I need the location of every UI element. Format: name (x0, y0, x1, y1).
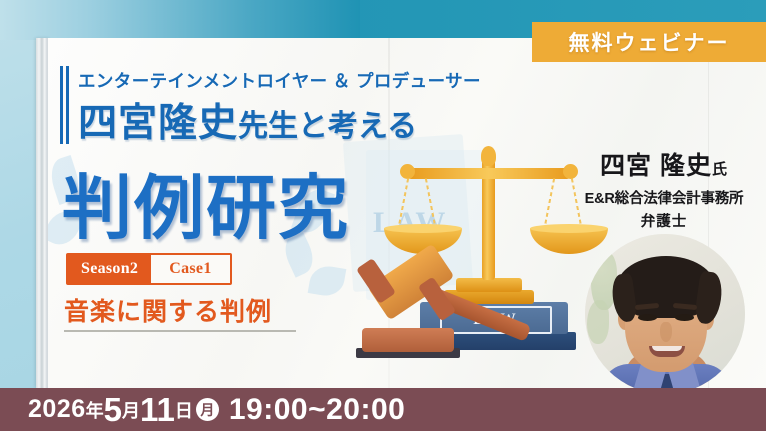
bottom-bar: 2026年5月11日月19:00~20:00 (0, 388, 766, 431)
page-title: 判例研究 (62, 152, 350, 253)
speaker-info: 四宮 隆史氏 E&R総合法律会計事務所 弁護士 (566, 146, 762, 231)
season-badge: Season2 (68, 255, 151, 283)
schedule-year: 2026 (28, 395, 86, 424)
schedule-year-unit: 年 (86, 397, 104, 423)
speaker-name-text: 四宮 隆史 (600, 152, 712, 180)
schedule-time: 19:00~20:00 (229, 393, 405, 427)
speaker-organization: E&R総合法律会計事務所 (566, 187, 762, 208)
schedule-datetime: 2026年5月11日月19:00~20:00 (28, 388, 405, 431)
speaker-avatar (585, 234, 745, 394)
headline-line: 四宮隆史先生と考える (78, 92, 417, 148)
schedule-day-unit: 日 (175, 397, 193, 423)
schedule-day: 11 (140, 391, 175, 429)
subject-underline (64, 330, 296, 332)
season-case-pills: Season2 Case1 (66, 253, 232, 285)
avatar-plant-leaf-2 (587, 300, 609, 344)
subject-text: 音楽に関する判例 (64, 292, 272, 328)
free-webinar-badge: 無料ウェビナー (532, 22, 766, 62)
watermark-leaf-3 (308, 263, 347, 298)
scale-beam (406, 168, 572, 179)
schedule-weekday-badge: 月 (196, 398, 219, 421)
webinar-banner: 無料ウェビナー LAW エンターテインメントロイヤー ＆ プロデューサー 四宮隆… (0, 0, 766, 431)
gavel-sound-block (362, 328, 454, 352)
schedule-month-unit: 月 (122, 397, 140, 423)
scale-finial (481, 146, 496, 166)
kicker-text: エンターテインメントロイヤー ＆ プロデューサー (78, 68, 481, 93)
avatar-eye-right (675, 314, 694, 321)
speaker-role: 弁護士 (566, 210, 762, 231)
top-teal-band-fade (0, 0, 360, 40)
avatar-eye-left (638, 314, 657, 321)
free-webinar-badge-label: 無料ウェビナー (569, 27, 730, 57)
schedule-month: 5 (104, 391, 122, 429)
case-badge: Case1 (151, 255, 229, 283)
speaker-name-honorific: 氏 (712, 161, 728, 178)
heading-accent-bars (60, 66, 72, 144)
scale-base-upper (456, 278, 522, 292)
speaker-name: 四宮 隆史氏 (566, 146, 762, 182)
avatar-nose (660, 322, 672, 342)
avatar-teeth (652, 346, 682, 351)
headline-speaker-name: 四宮隆史 (78, 102, 238, 145)
